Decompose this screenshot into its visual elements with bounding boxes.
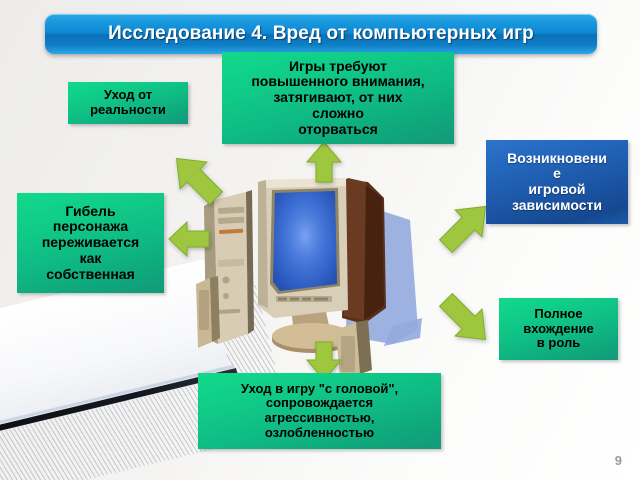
concept-box-role-label: Полное вхождение в роль: [523, 307, 593, 351]
concept-box-escape-from-reality[interactable]: Уход от реальности: [68, 82, 188, 124]
concept-box-game-addiction[interactable]: Возникновени е игровой зависимости: [486, 140, 628, 224]
arrow-down-right-icon: [434, 288, 496, 350]
computer-svg: [196, 158, 436, 383]
concept-box-aggression[interactable]: Уход в игру "с головой", сопровождается …: [198, 373, 441, 449]
concept-box-addiction-label: Возникновени е игровой зависимости: [507, 151, 607, 214]
concept-box-games-demand-attention[interactable]: Игры требуют повышенного внимания, затяг…: [222, 52, 454, 144]
concept-box-aggression-label: Уход в игру "с головой", сопровождается …: [241, 382, 398, 440]
concept-box-full-immersion-in-role[interactable]: Полное вхождение в роль: [499, 298, 618, 360]
slide-title-text: Исследование 4. Вред от компьютерных игр: [108, 23, 534, 45]
concept-box-character-death[interactable]: Гибель персонажа переживается как собств…: [17, 193, 164, 293]
slide-canvas: Исследование 4. Вред от компьютерных игр: [0, 0, 640, 480]
concept-box-attention-label: Игры требуют повышенного внимания, затяг…: [251, 59, 424, 137]
concept-box-escape-label: Уход от реальности: [90, 88, 166, 117]
slide-title-banner: Исследование 4. Вред от компьютерных игр: [45, 14, 597, 54]
desktop-computer-illustration: [196, 158, 436, 383]
concept-box-death-label: Гибель персонажа переживается как собств…: [42, 204, 139, 282]
slide-page-number: 9: [615, 453, 622, 468]
